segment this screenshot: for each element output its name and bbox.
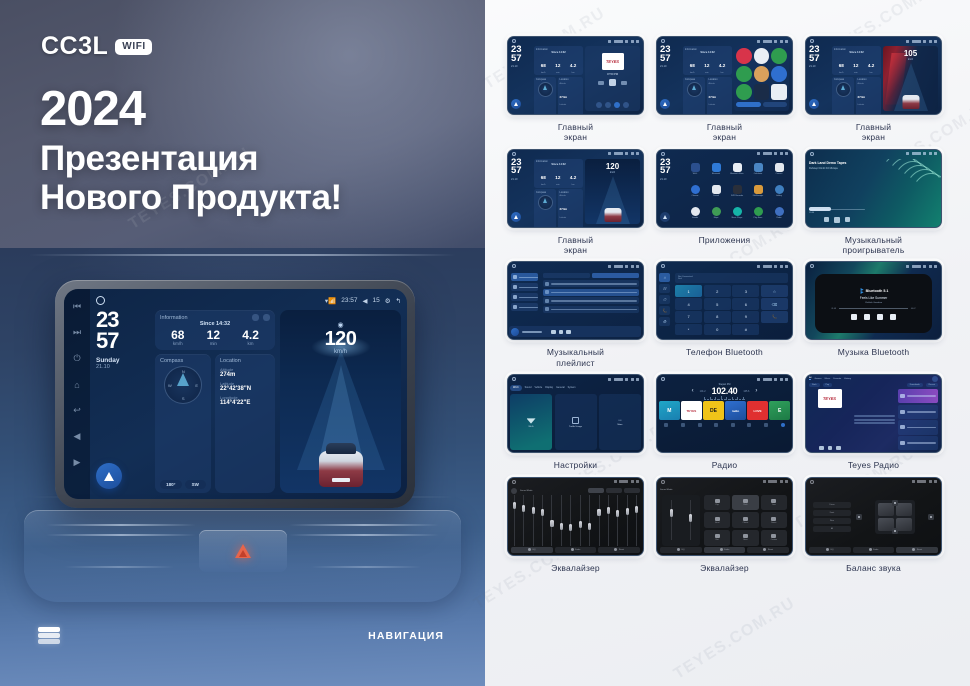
gallery-item-home-apps[interactable]: 23 57 21.10 Information Since 14:32 [656, 36, 793, 143]
car-illustration [319, 441, 363, 487]
compass-degrees: 180° [160, 480, 182, 489]
music-visualizer [870, 159, 941, 225]
app-icon[interactable] [736, 84, 752, 100]
playlist-sidebar[interactable] [509, 271, 540, 322]
key-3[interactable]: 3 [732, 285, 759, 296]
screenshot-thumbnail[interactable]: Wi-Fi Sound Vehicle Display General Syst… [507, 374, 644, 453]
screenshot-thumbnail[interactable]: Dark Land Demo Tapes Dubstep Dimitri DJ … [805, 149, 942, 228]
playlist-tab[interactable] [511, 273, 538, 281]
gallery-item-balance[interactable]: Driver Front Rear All [805, 477, 942, 573]
app-item[interactable]: Bluetooth Music [727, 159, 747, 180]
gallery-item-bt-music[interactable]: Bluetooth 5.1 Feels Like Summer Childish… [805, 261, 942, 368]
app-icon[interactable] [771, 84, 787, 100]
head-unit-screen[interactable]: ⏮ ⏭ ⏻ ⌂ ↩ ◀ ▶ ▾📶 23:57 [64, 289, 407, 499]
key-0[interactable]: 0 [704, 324, 731, 335]
app-item[interactable]: Control [706, 181, 726, 202]
altitude-row: Altitude 274m [220, 367, 270, 378]
screenshot-gallery: TEYES.COM.RU TEYES.COM.RU TEYES.COM.RU T… [485, 0, 970, 686]
status-home-icon[interactable] [96, 296, 105, 305]
playlist-track-list[interactable] [543, 280, 639, 320]
clock-day: Sunday [96, 357, 150, 364]
eq-band[interactable] [617, 495, 620, 546]
eq-band[interactable] [551, 495, 554, 546]
phone-sidebar[interactable]: ⌗ ☷ ⏱ 📞 ⚙ [658, 271, 671, 337]
mini-back-fab[interactable] [660, 212, 670, 222]
key-4[interactable]: 4 [675, 298, 702, 309]
mini-nav-fab[interactable] [511, 212, 521, 222]
next-station[interactable]: 105.6 [743, 390, 749, 393]
screenshot-thumbnail[interactable]: Bluetooth 5.1 Feels Like Summer Childish… [805, 261, 942, 340]
app-icon[interactable] [754, 66, 770, 82]
tab-display[interactable]: Display [545, 386, 553, 389]
gallery-item-equalizer[interactable]: Sound Mode [507, 477, 644, 573]
fader-sliders[interactable] [662, 495, 700, 546]
gallery-item-apps[interactable]: 23 57 21.10 Wi-Fi Bluetooth Bluetooth Mu… [656, 149, 793, 256]
mini-trip-unit: km [570, 72, 576, 74]
footer-fader[interactable]: Fader [853, 547, 895, 553]
prev-icon[interactable] [598, 81, 604, 85]
clock-widget[interactable]: 23 57 Sunday 21.10 [96, 310, 150, 493]
mini-clock-minutes: 57 [511, 55, 532, 64]
prev-icon[interactable] [551, 330, 556, 335]
status-bar: ▾📶 23:57 ◀ 15 ⚙ ↰ [96, 294, 401, 307]
teyes-now-playing: TEYES [809, 389, 851, 450]
radio-presets[interactable]: M TEYES DE radio LOVE E [659, 401, 790, 420]
mini-trip-value: 4.2 [570, 63, 576, 68]
information-header: Information [160, 314, 270, 321]
back-icon[interactable]: ↩ [72, 405, 83, 416]
loc-icon[interactable] [747, 423, 751, 427]
navigation-fab[interactable] [96, 463, 122, 489]
footer-fader[interactable]: Fader [704, 547, 746, 553]
preset-front[interactable]: Front [813, 510, 851, 516]
mini-nav-widget[interactable]: 120 km/h [585, 159, 640, 224]
key-6[interactable]: 6 [732, 298, 759, 309]
mini-location-title: Location [560, 78, 582, 81]
gallery-item-playlist[interactable]: Музыкальный плейлист [507, 261, 644, 368]
app-item[interactable]: Camera [769, 159, 789, 180]
screenshot-thumbnail[interactable] [507, 261, 644, 340]
eq-band[interactable] [532, 495, 535, 546]
mini-trip-unit: min [555, 72, 560, 74]
next-icon[interactable] [890, 314, 896, 320]
preset-custom-1[interactable] [606, 488, 622, 493]
preset-rock[interactable]: Rock [732, 495, 758, 511]
preset-dance[interactable]: Dance [761, 512, 787, 528]
eq-band[interactable] [513, 495, 516, 546]
fader[interactable] [670, 500, 673, 541]
gallery-row: 23 57 21.10 Information Since 14:32 [507, 149, 952, 256]
track-row[interactable] [543, 297, 639, 304]
compass-widget[interactable]: Compass N S E W [155, 354, 211, 493]
key-5[interactable]: 5 [704, 298, 731, 309]
backspace-icon[interactable]: ⌫ [761, 298, 788, 309]
preset-station[interactable]: radio [725, 401, 746, 420]
fader[interactable] [689, 500, 692, 541]
equalizer2-footer[interactable]: EQ Fader Reset [660, 547, 789, 553]
key-9[interactable]: 9 [732, 311, 759, 322]
transport-controls[interactable] [809, 446, 851, 451]
preset-custom-2[interactable] [624, 488, 640, 493]
preset-station[interactable]: M [659, 401, 680, 420]
playlist-filter-tabs[interactable] [543, 273, 639, 278]
preset-bass[interactable]: Bass [732, 530, 758, 546]
clock-minutes: 57 [96, 331, 150, 352]
mini-trip-value: 68 [541, 63, 546, 68]
mini-nav-fab[interactable] [511, 99, 521, 109]
track-row[interactable] [543, 289, 639, 296]
screenshot-thumbnail[interactable]: Sound Mode Pop Rock Jazz [656, 477, 793, 556]
call-log-icon[interactable]: 📞 [659, 306, 670, 315]
stop-icon[interactable] [828, 446, 833, 451]
app-icon[interactable] [771, 48, 787, 64]
screenshot-thumbnail[interactable]: 23 57 21.10 Information Since 14:32 [805, 36, 942, 115]
screenshot-thumbnail[interactable]: 23 57 21.10 Information Since 14:32 [507, 36, 644, 115]
play-icon[interactable] [609, 79, 616, 86]
arrow-left-icon[interactable] [856, 514, 862, 520]
screenshot-thumbnail[interactable]: 23 57 21.10 Information Since 14:32 [507, 149, 644, 228]
screenshot-thumbnail[interactable]: Stepan FM ‹ 101.2 102.40 105.6 › [656, 374, 793, 453]
screenshot-thumbnail[interactable]: Driver Front Rear All [805, 477, 942, 556]
app-item[interactable]: Wi-Fi [685, 159, 705, 180]
phone-number-input[interactable]: Not Connected Dial [675, 273, 788, 283]
close-icon[interactable] [932, 376, 938, 382]
status-indicators: ▾📶 23:57 ◀ 15 ⚙ ↰ [325, 297, 401, 305]
car-illustration [902, 95, 919, 109]
station-row[interactable] [898, 420, 939, 434]
eq-band[interactable] [588, 495, 591, 546]
key-7[interactable]: 7 [675, 311, 702, 322]
subtab-rock[interactable]: Rock [809, 383, 820, 387]
tab-all[interactable]: All [809, 377, 811, 380]
app-icon[interactable] [754, 48, 770, 64]
arrow-right-icon[interactable] [928, 514, 934, 520]
eq-icon[interactable] [714, 423, 718, 427]
key-8[interactable]: 8 [704, 311, 731, 322]
list-icon[interactable] [698, 423, 702, 427]
bt-track-artist: Childish Gambino [865, 302, 882, 304]
settings-gear-icon[interactable]: ⚙ [385, 297, 391, 305]
mini-nav-fab[interactable] [660, 99, 670, 109]
seek-down-icon[interactable]: ‹ [692, 388, 694, 394]
app-item[interactable]: Play Store [748, 203, 768, 224]
key-2[interactable]: 2 [704, 285, 731, 296]
prev-icon[interactable] [824, 217, 829, 222]
mini-media-widget[interactable]: TEYES 07:50 PM [585, 46, 640, 111]
search-icon[interactable] [681, 423, 685, 427]
preset-grid[interactable]: Pop Rock Jazz Vocal Classic Dance Flat B… [704, 495, 787, 546]
back-arrow-icon[interactable]: ↰ [396, 297, 401, 305]
eq-band[interactable] [626, 495, 629, 546]
footer-reset[interactable]: Reset [598, 547, 640, 553]
gallery-item-home-nav[interactable]: 23 57 21.10 Information Since 14:32 [507, 149, 644, 256]
prev-track-icon[interactable]: ⏮ [72, 301, 83, 312]
prev-icon[interactable] [819, 446, 824, 451]
preset-all[interactable]: All [813, 526, 851, 532]
preset-flat[interactable]: Flat [704, 530, 730, 546]
preset-vocal[interactable]: Vocal [704, 512, 730, 528]
preset-station[interactable]: DE [703, 401, 724, 420]
eq-band[interactable] [635, 495, 638, 546]
seat-rear-right[interactable] [896, 518, 912, 531]
transport-controls[interactable] [809, 217, 865, 223]
trip-stat: 68 km/h [171, 329, 184, 346]
footer-fader[interactable]: Fader [555, 547, 597, 553]
station-row[interactable] [898, 436, 939, 450]
tab-system[interactable]: System [568, 386, 576, 389]
mini-clock-date: 21.10 [511, 65, 532, 68]
tab-music[interactable]: Music [825, 378, 831, 380]
eq-band[interactable] [607, 495, 610, 546]
tab-genres[interactable]: Genres [814, 378, 821, 380]
preset-flat[interactable] [588, 488, 604, 493]
call-icon[interactable]: 📞 [761, 311, 788, 322]
arrow-up-icon[interactable] [892, 500, 898, 506]
screenshot-thumbnail[interactable]: ⌗ ☷ ⏱ 📞 ⚙ Not Connected Dial [656, 261, 793, 340]
playlist-tab[interactable] [511, 303, 538, 311]
status-clock: 23:57 [341, 297, 357, 304]
equalizer-bands[interactable] [511, 495, 640, 547]
footer-eq[interactable]: EQ [511, 547, 553, 553]
prev-station[interactable]: 101.2 [700, 390, 706, 393]
app-item[interactable]: Maps [706, 203, 726, 224]
next-track-icon[interactable]: ⏭ [72, 327, 83, 338]
footer-eq[interactable]: EQ [809, 547, 851, 553]
app-item[interactable]: DVR Recorder [727, 181, 747, 202]
track-row[interactable] [543, 280, 639, 287]
hero-title: 2024 Презентация Нового Продукта! [40, 85, 342, 217]
app-item[interactable]: Calculator [748, 159, 768, 180]
media-time: 07:50 PM [607, 73, 618, 76]
bt-progress[interactable]: 01:48 04:07 [831, 308, 915, 310]
radio-tuning-scale[interactable] [659, 396, 790, 400]
preset-rear[interactable]: Rear [813, 518, 851, 524]
screen-side-buttons[interactable]: ⏮ ⏭ ⏻ ⌂ ↩ ◀ ▶ [64, 289, 90, 499]
tab-sound[interactable]: Sound [525, 386, 532, 389]
gallery-caption: Приложения [699, 235, 751, 245]
sound-mode-label: Sound Mode [660, 489, 672, 491]
settings-card-more[interactable]: ••• More [599, 394, 641, 450]
next-icon[interactable] [621, 81, 627, 85]
preset-buttons[interactable] [588, 488, 640, 493]
filter-downloads[interactable]: Downloads [907, 383, 923, 387]
recents-icon[interactable]: ⏱ [659, 295, 670, 304]
gallery-item-bt-phone[interactable]: ⌗ ☷ ⏱ 📞 ⚙ Not Connected Dial [656, 261, 793, 368]
remaining-time: 04:07 [911, 308, 916, 310]
information-card[interactable]: Information Since 14:32 68 km/h [155, 310, 275, 350]
tab-vehicle[interactable]: Vehicle [535, 386, 543, 389]
hero-footer-label: НАВИГАЦИЯ [368, 630, 444, 642]
screenshot-thumbnail[interactable]: 23 57 21.10 Wi-Fi Bluetooth Bluetooth Mu… [656, 149, 793, 228]
tab-wifi[interactable]: Wi-Fi [510, 385, 522, 391]
logo-text: CC3L [41, 32, 108, 61]
tab-general[interactable]: General [556, 386, 565, 389]
next-icon[interactable] [845, 217, 850, 222]
screenshot-thumbnail[interactable]: All Genres Music Favorite History Rock P… [805, 374, 942, 453]
teyes-station-list[interactable] [898, 389, 939, 450]
teyes-tabs[interactable]: All Genres Music Favorite History [806, 375, 941, 382]
next-icon[interactable] [836, 446, 841, 451]
gallery-item-home-nav-red[interactable]: 23 57 21.10 Information Since 14:32 [805, 36, 942, 143]
tab-history[interactable]: History [844, 378, 851, 380]
settings-card-wifi[interactable]: Wi-Fi [510, 394, 552, 450]
app-item[interactable]: Radio [769, 203, 789, 224]
music-now-playing: Dark Land Demo Tapes Dubstep Dimitri DJ … [806, 159, 868, 225]
preset-custom[interactable]: Custom [761, 530, 787, 546]
volume-up-icon[interactable]: ▶ [72, 457, 83, 468]
mini-app-shortcuts[interactable] [734, 46, 789, 111]
app-item[interactable]: Gmode [685, 203, 705, 224]
hero-year: 2024 [40, 85, 342, 135]
mini-nav-widget[interactable]: 105 km/h [883, 46, 938, 111]
station-row[interactable] [898, 405, 939, 419]
preset-classic[interactable]: Classic [732, 512, 758, 528]
play-pause-icon[interactable] [864, 314, 870, 320]
pause-icon[interactable] [559, 330, 564, 335]
app-drawer-grid[interactable]: Wi-Fi Bluetooth Bluetooth Music Calculat… [683, 159, 789, 224]
eq-band[interactable] [570, 495, 573, 546]
app-icon[interactable] [736, 66, 752, 82]
footer-eq[interactable]: EQ [660, 547, 702, 553]
eq-band[interactable] [522, 495, 525, 546]
teyes-metadata [854, 389, 895, 450]
band-icon[interactable] [664, 423, 668, 427]
stop-icon[interactable] [877, 314, 883, 320]
screenshot-thumbnail[interactable]: Sound Mode [507, 477, 644, 556]
gallery-item-music-player[interactable]: Dark Land Demo Tapes Dubstep Dimitri DJ … [805, 149, 942, 256]
settings-cards[interactable]: Wi-Fi Traffic Usage ••• More [510, 394, 641, 450]
app-icon[interactable] [771, 66, 787, 82]
information-actions[interactable] [252, 314, 270, 321]
filter-recent[interactable]: Recent [926, 383, 938, 387]
mini-nav-fab[interactable] [809, 99, 819, 109]
bluetooth-icon [859, 288, 864, 294]
progress-slider[interactable] [809, 209, 865, 210]
key-hash[interactable]: # [732, 324, 759, 335]
screenshot-thumbnail[interactable]: 23 57 21.10 Information Since 14:32 [656, 36, 793, 115]
playlist-tab[interactable] [511, 293, 538, 301]
radio-dock[interactable] [659, 422, 790, 428]
app-item[interactable]: Chrome [685, 181, 705, 202]
preset-pop[interactable]: Pop [704, 495, 730, 511]
album-art: TEYES [818, 389, 842, 408]
equalizer-header: Sound Mode [511, 487, 640, 495]
rds-icon[interactable] [731, 423, 735, 427]
location-widget[interactable]: Location Altitude 274m Latitude 22°42'38… [215, 354, 275, 493]
active-icon[interactable] [781, 423, 785, 427]
gallery-item-equalizer2[interactable]: Sound Mode Pop Rock Jazz [656, 477, 793, 573]
app-item[interactable]: Bluetooth [706, 159, 726, 180]
trip-stats: 68 km/h 12 min 4.2 [160, 329, 270, 346]
track-row[interactable] [543, 306, 639, 313]
preset-station[interactable]: E [769, 401, 790, 420]
app-item[interactable]: FileManager [748, 181, 768, 202]
presentation-page: TEYES.COM.RU TEYES.COM.RU TEYES.COM.RU C… [0, 0, 970, 686]
dial-pad[interactable]: 1 2 3 ☆ 4 5 6 ⌫ 7 8 [675, 285, 788, 335]
contacts-icon[interactable]: ☷ [659, 284, 670, 293]
navigation-widget[interactable]: ◉ 120 km/h [280, 310, 401, 493]
gallery-item-radio[interactable]: Stepan FM ‹ 101.2 102.40 105.6 › [656, 374, 793, 470]
lower-widgets: Compass N S E W [155, 354, 275, 493]
compass-direction: SW [185, 480, 207, 489]
playlist-tab[interactable] [511, 283, 538, 291]
mini-speed-unit: km/h [883, 58, 938, 61]
dialpad-icon[interactable]: ⌗ [659, 273, 670, 282]
home-widgets: 23 57 Sunday 21.10 Information [96, 310, 401, 493]
mini-trip-unit: km/h [541, 72, 546, 74]
pause-icon[interactable] [834, 217, 840, 223]
hazard-light-button[interactable] [199, 530, 287, 572]
prev-icon[interactable] [851, 314, 857, 320]
gallery-item-home-media[interactable]: 23 57 21.10 Information Since 14:32 [507, 36, 644, 143]
album-art: TEYES [602, 53, 624, 70]
eq-band[interactable] [598, 495, 601, 546]
gallery-caption: Главный экран [558, 235, 593, 256]
app-icon[interactable] [736, 48, 752, 64]
app-item[interactable]: Gallery [769, 181, 789, 202]
station-row[interactable] [898, 389, 939, 403]
compass-title: Compass [160, 358, 206, 364]
trip-value: 68 [171, 329, 184, 341]
gallery-caption: Эквалайзер [551, 563, 600, 573]
arrow-down-icon[interactable] [892, 528, 898, 534]
gallery-item-teyes-radio[interactable]: All Genres Music Favorite History Rock P… [805, 374, 942, 470]
settings-card-traffic[interactable]: Traffic Usage [555, 394, 597, 450]
app-icon[interactable] [754, 84, 770, 100]
gallery-caption: Баланс звука [846, 563, 901, 573]
gallery-caption: Радио [712, 460, 738, 470]
favorite-icon[interactable]: ☆ [761, 285, 788, 296]
eq-band[interactable] [579, 495, 582, 546]
balance-footer[interactable]: EQ Fader Reset [809, 547, 938, 553]
home-icon[interactable]: ⌂ [72, 379, 83, 390]
balance-presets[interactable]: Driver Front Rear All [813, 502, 851, 532]
playlist-now-playing-bar[interactable] [509, 326, 641, 337]
balance-pad[interactable] [856, 500, 934, 534]
altitude-value: 274m [220, 372, 270, 378]
subtab-pop[interactable]: Pop [823, 383, 833, 387]
mini-trip-value: 12 [555, 63, 560, 68]
preset-station[interactable]: TEYES [681, 401, 702, 420]
settings-icon[interactable]: ⚙ [659, 317, 670, 326]
preset-station[interactable]: LOVE [747, 401, 768, 420]
key-star[interactable]: * [675, 324, 702, 335]
footer-reset[interactable]: Reset [896, 547, 938, 553]
next-icon[interactable] [566, 330, 571, 335]
app-item[interactable]: Music Player [727, 203, 747, 224]
settings-icon[interactable] [764, 423, 768, 427]
preset-driver[interactable]: Driver [813, 502, 851, 508]
preset-jazz[interactable]: Jazz [761, 495, 787, 511]
tab-favorite[interactable]: Favorite [833, 378, 841, 380]
seek-up-icon[interactable]: › [755, 388, 757, 394]
car-illustration [604, 208, 621, 222]
volume-down-icon[interactable]: ◀ [72, 431, 83, 442]
eq-band[interactable] [541, 495, 544, 546]
eq-band[interactable] [560, 495, 563, 546]
seat-front-right[interactable] [896, 503, 912, 516]
gallery-item-settings[interactable]: Wi-Fi Sound Vehicle Display General Syst… [507, 374, 644, 470]
equalizer-footer[interactable]: EQ Fader Reset [511, 547, 640, 553]
trip-value: 12 [207, 329, 220, 341]
power-icon[interactable]: ⏻ [72, 353, 83, 364]
footer-reset[interactable]: Reset [747, 547, 789, 553]
key-1[interactable]: 1 [675, 285, 702, 296]
volume-level: 15 [372, 297, 379, 304]
bt-transport[interactable] [851, 314, 896, 320]
longitude-row: Longitude 114°4'22"E [220, 395, 270, 406]
settings-tabs[interactable]: Wi-Fi Sound Vehicle Display General Syst… [510, 384, 641, 391]
